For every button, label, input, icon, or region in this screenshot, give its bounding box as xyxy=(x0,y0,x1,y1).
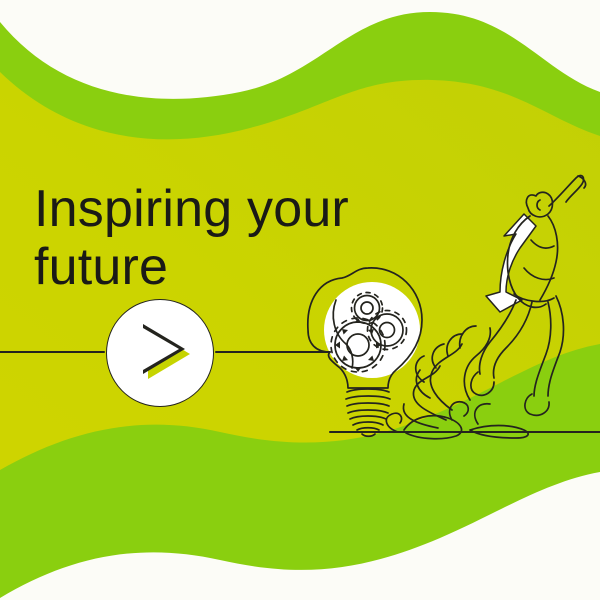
poster-canvas: Inspiring your future xyxy=(0,0,600,600)
background-waves xyxy=(0,0,600,600)
play-button[interactable] xyxy=(106,299,214,407)
play-triangle-inner xyxy=(143,328,179,370)
page-title: Inspiring your future xyxy=(34,180,364,296)
